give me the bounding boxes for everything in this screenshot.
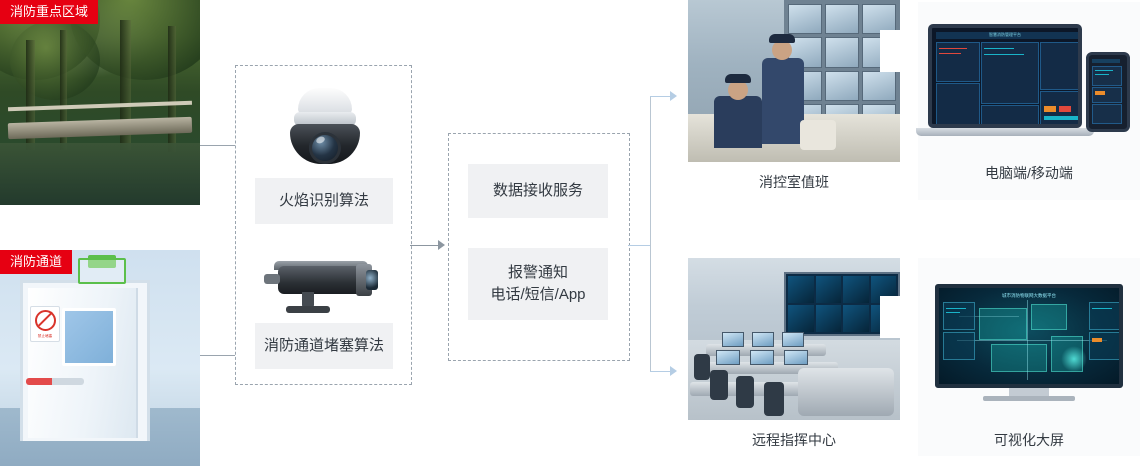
forest-scene-photo bbox=[0, 0, 200, 205]
phone-illustration bbox=[1086, 52, 1130, 132]
connector-service-branch bbox=[650, 96, 651, 371]
detection-box-overlay bbox=[78, 258, 126, 284]
bullet-camera-icon bbox=[262, 252, 388, 314]
ptz-camera-icon bbox=[286, 88, 364, 168]
connector-branch-bottom bbox=[650, 371, 672, 372]
device-caption-big-screen: 可视化大屏 bbox=[918, 430, 1140, 450]
connector-algo-to-service bbox=[410, 245, 440, 246]
connector-branch-top bbox=[650, 96, 672, 97]
control-room-caption: 消控室值班 bbox=[688, 172, 900, 192]
callout-control-to-device bbox=[880, 30, 920, 72]
service-card-alarm-notify[interactable]: 报警通知 电话/短信/App bbox=[468, 248, 608, 320]
tv-dashboard-title: 城市消防物联网大数据平台 bbox=[1002, 293, 1056, 299]
command-center-caption: 远程指挥中心 bbox=[688, 430, 900, 450]
arrow-algo-to-service bbox=[438, 240, 445, 250]
control-room-photo bbox=[688, 0, 900, 162]
connector-door-to-algo bbox=[200, 355, 236, 356]
door-scene-label: 消防通道 bbox=[0, 250, 72, 274]
diagram-canvas: 消防重点区域 禁止堵塞 消防通道 火焰识别算法 消防通道堵塞算法 bbox=[0, 0, 1140, 466]
algorithm-card-blockage[interactable]: 消防通道堵塞算法 bbox=[255, 323, 393, 369]
arrow-to-command-center bbox=[670, 366, 677, 376]
tv-illustration: 城市消防物联网大数据平台 bbox=[935, 284, 1123, 388]
service-card-data-receive[interactable]: 数据接收服务 bbox=[468, 164, 608, 218]
device-caption-pc-mobile: 电脑端/移动端 bbox=[918, 163, 1140, 183]
alarm-notify-line1: 报警通知 bbox=[490, 262, 585, 285]
command-center-photo bbox=[688, 258, 900, 420]
pc-dashboard-title: 智慧消防管理平台 bbox=[989, 32, 1021, 38]
laptop-illustration: 智慧消防管理平台 bbox=[928, 24, 1082, 128]
device-card-big-screen: 城市消防物联网大数据平台 bbox=[918, 258, 1140, 456]
forest-scene-label: 消防重点区域 bbox=[0, 0, 98, 24]
alarm-notify-line2: 电话/短信/App bbox=[490, 284, 585, 307]
callout-command-to-device bbox=[880, 296, 920, 338]
no-blocking-sign-icon: 禁止堵塞 bbox=[30, 306, 60, 342]
connector-forest-to-algo bbox=[200, 145, 236, 146]
arrow-to-control-room bbox=[670, 91, 677, 101]
algorithm-card-flame[interactable]: 火焰识别算法 bbox=[255, 178, 393, 224]
connector-service-out bbox=[628, 245, 650, 246]
